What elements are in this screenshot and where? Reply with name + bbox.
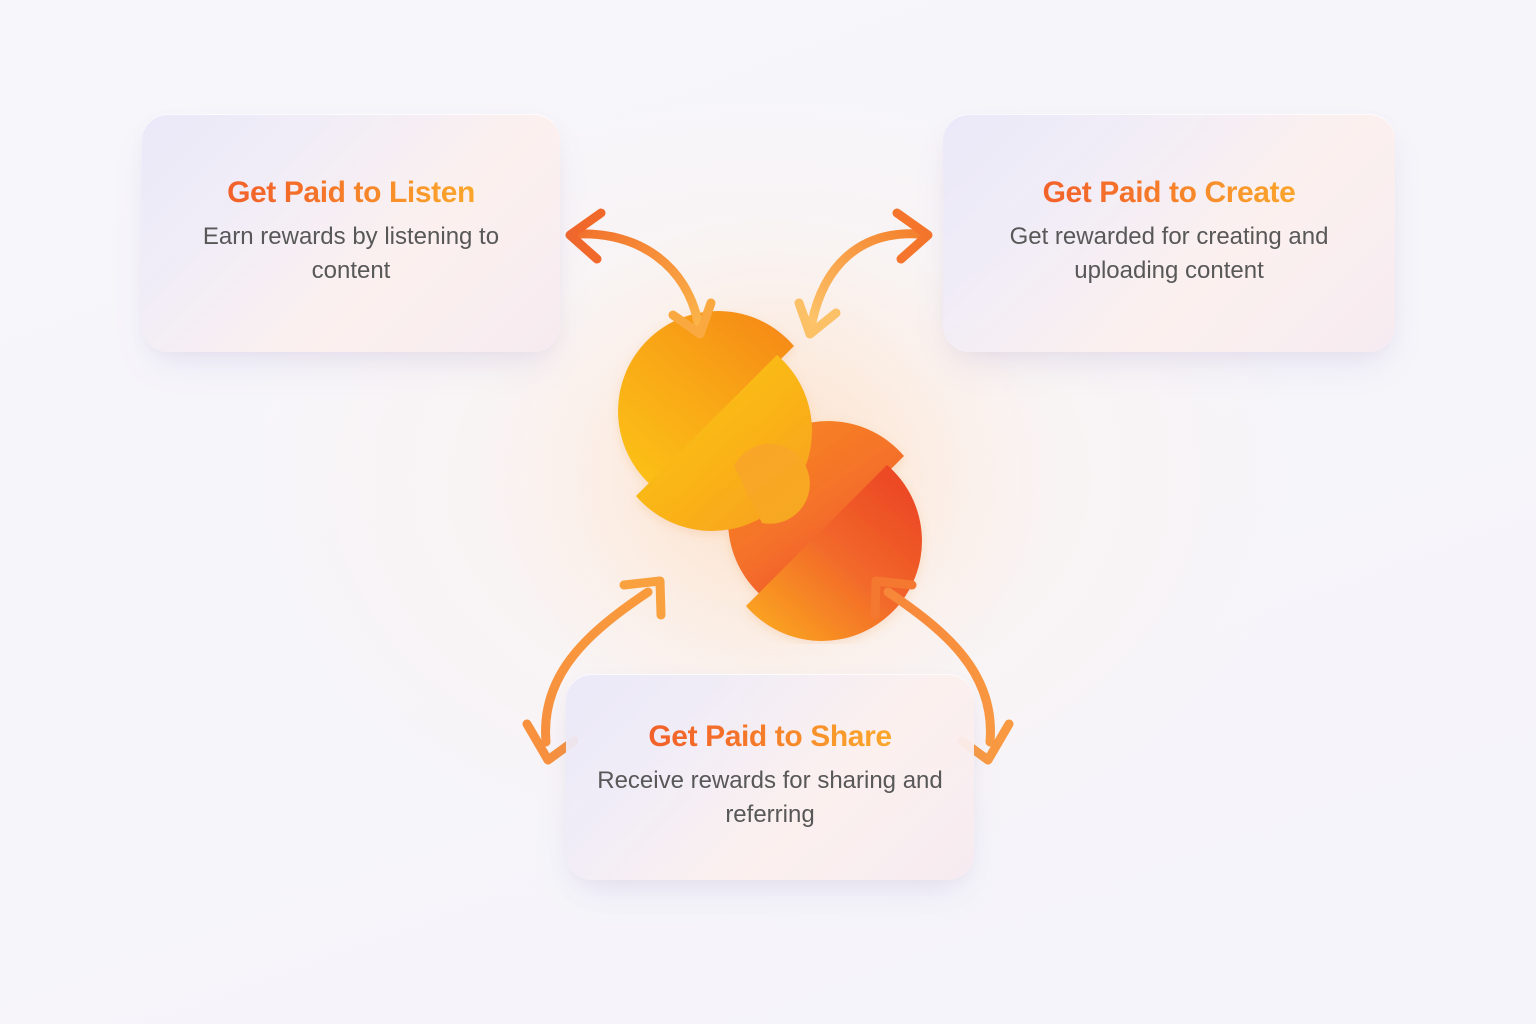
card-listen-title: Get Paid to Listen	[168, 175, 534, 210]
card-create-title: Get Paid to Create	[969, 175, 1369, 210]
pinwheel-logo	[598, 308, 942, 644]
card-get-paid-to-share[interactable]: Get Paid to Share Receive rewards for sh…	[566, 674, 974, 880]
diagram-canvas: Get Paid to Listen Earn rewards by liste…	[0, 0, 1536, 1024]
card-get-paid-to-create[interactable]: Get Paid to Create Get rewarded for crea…	[943, 114, 1395, 352]
card-share-description: Receive rewards for sharing and referrin…	[592, 764, 948, 831]
card-get-paid-to-listen[interactable]: Get Paid to Listen Earn rewards by liste…	[142, 114, 560, 352]
card-share-title: Get Paid to Share	[592, 719, 948, 754]
pinwheel-logo-svg	[598, 308, 942, 644]
card-create-description: Get rewarded for creating and uploading …	[969, 220, 1369, 287]
card-listen-description: Earn rewards by listening to content	[168, 220, 534, 287]
